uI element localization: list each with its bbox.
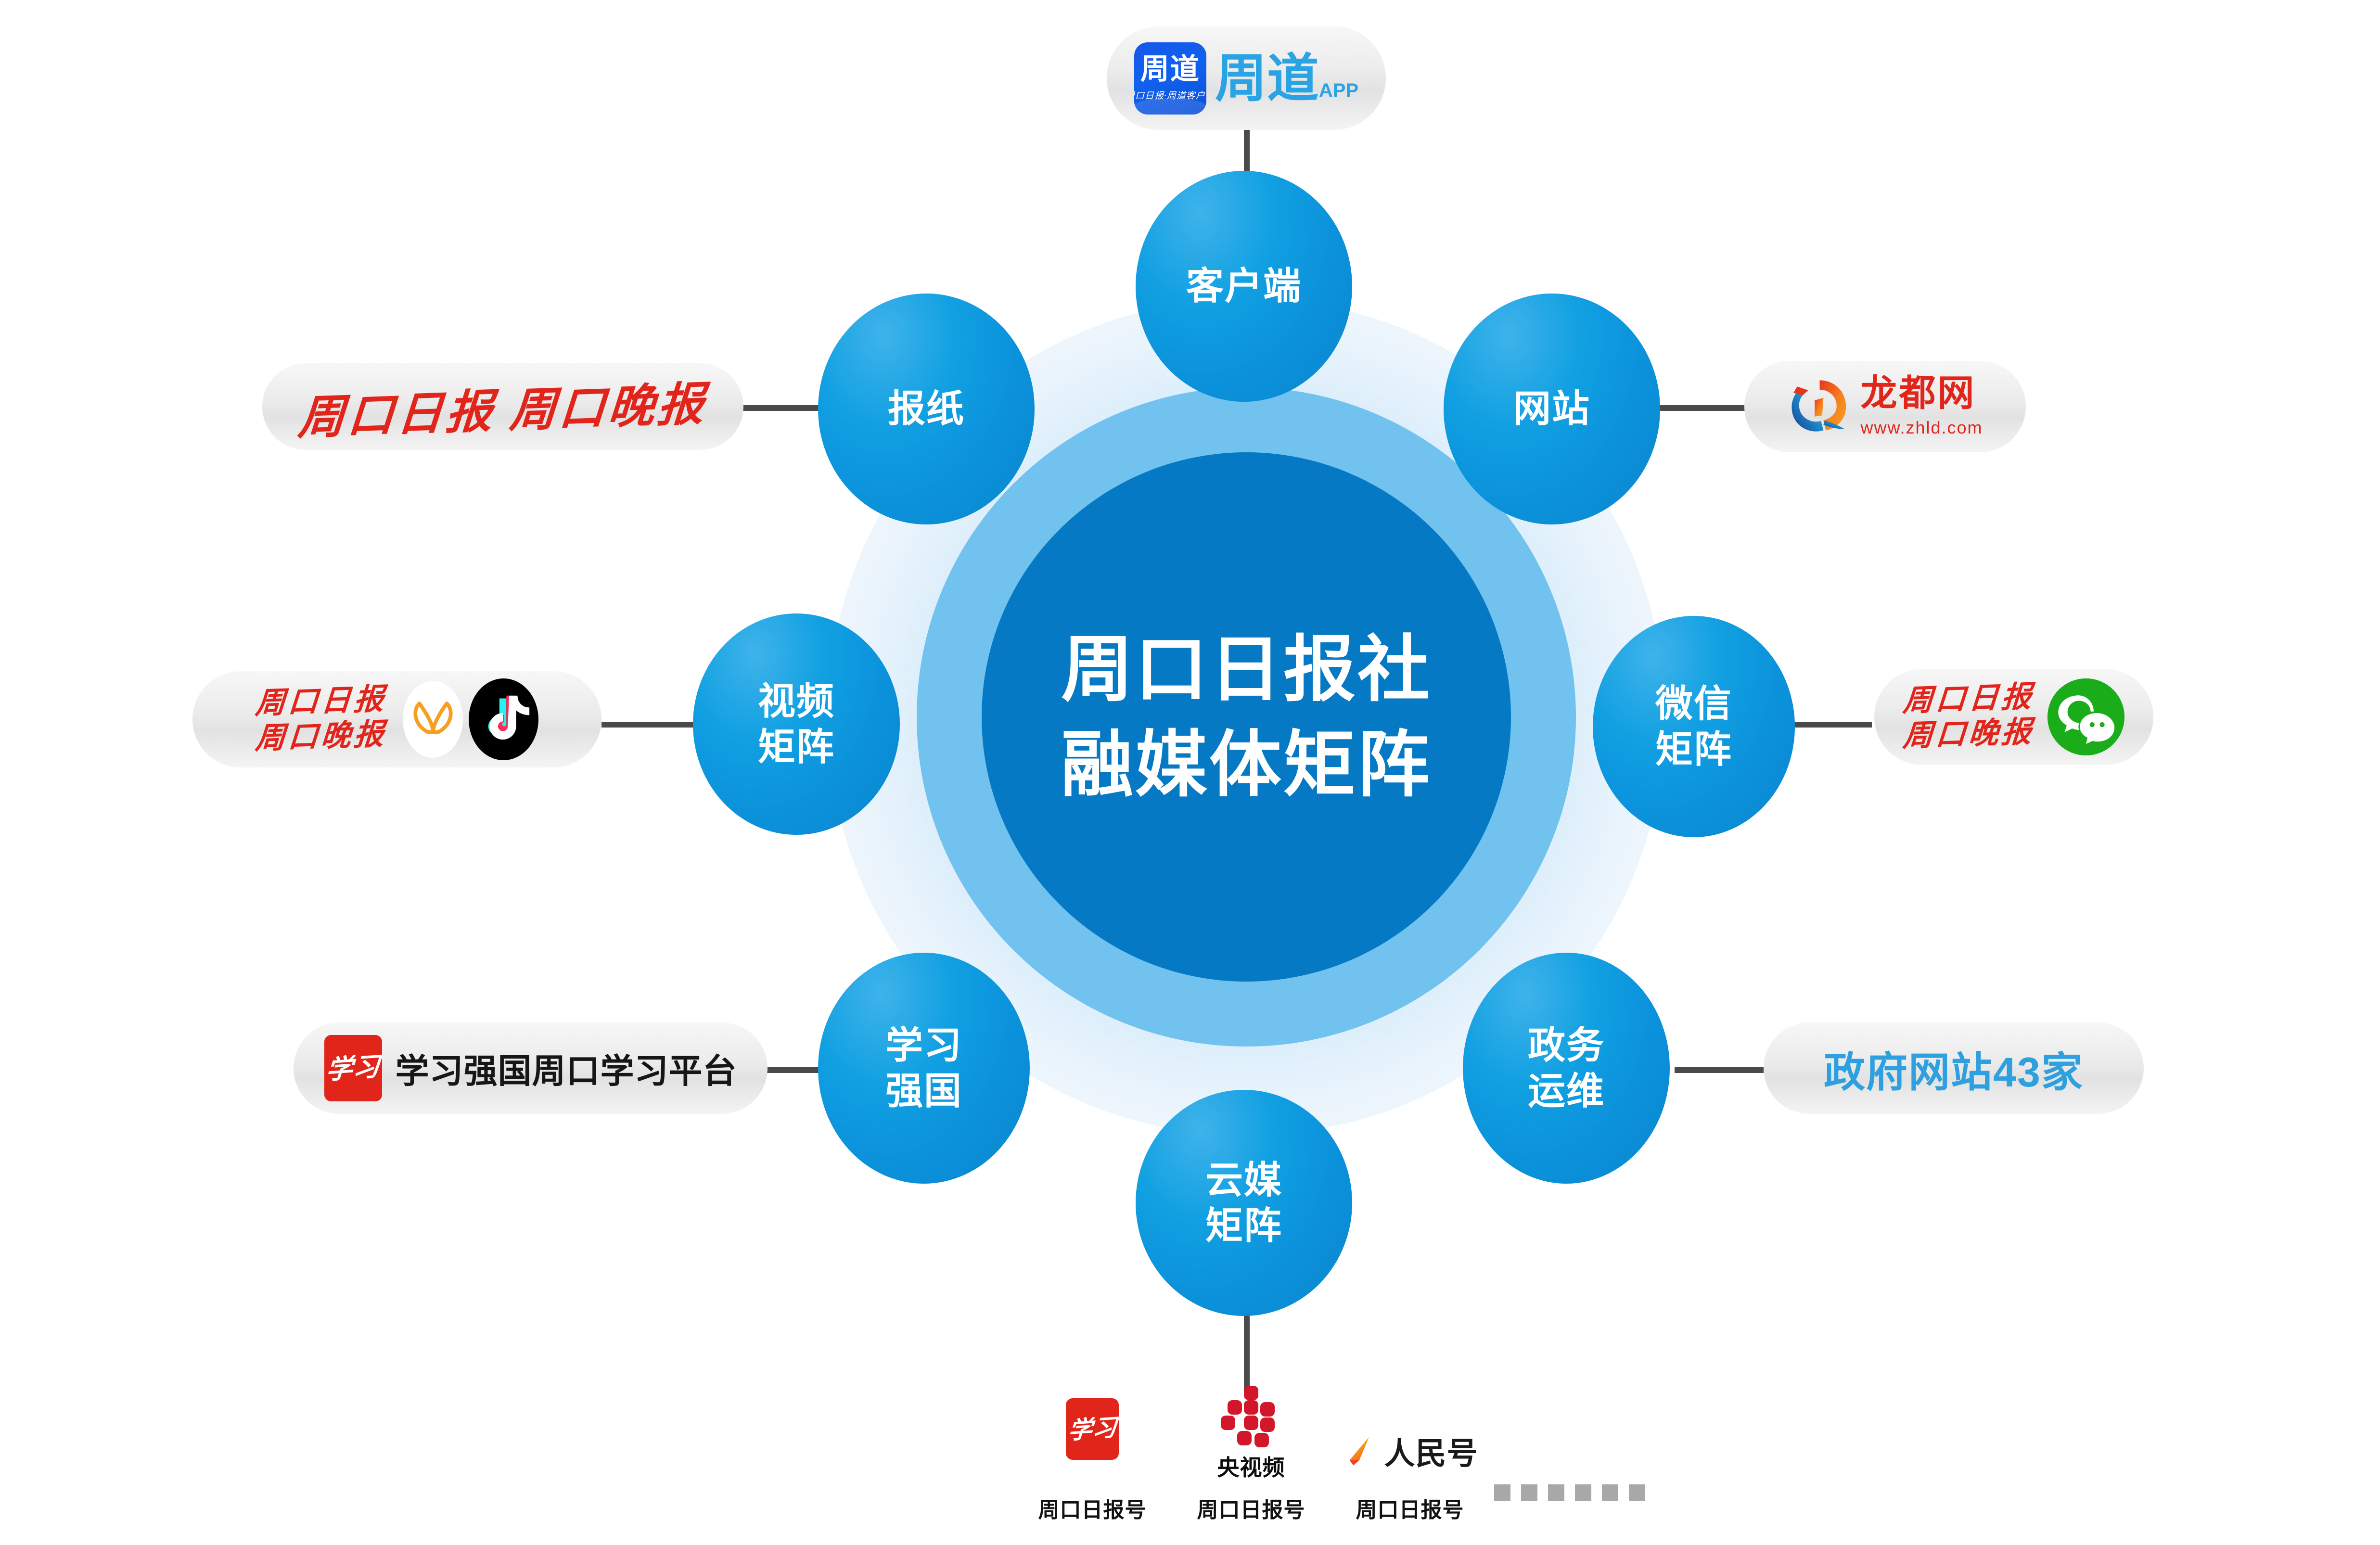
wechat-icon xyxy=(2047,678,2124,755)
node-video-matrix[interactable]: 视频 矩阵 xyxy=(693,613,900,835)
video-masthead-line2: 周口晚报 xyxy=(254,717,388,757)
node-website[interactable]: 网站 xyxy=(1444,294,1660,524)
node-wechat-label-2: 矩阵 xyxy=(1655,727,1732,772)
bottom-item-xuexi[interactable]: 学习 周口日报号 xyxy=(1013,1398,1172,1523)
xuexi-qiangguo-badge-icon: 学习 xyxy=(324,1035,382,1101)
connector-video-to-chip xyxy=(601,722,698,728)
xuexi-platform-text: 学习强国周口学习平台 xyxy=(396,1044,737,1093)
chip-zhoudao-app[interactable]: 周道 周口日报·周道客户端 周道 APP xyxy=(1107,26,1386,130)
yangshipin-wordmark: 央视频 xyxy=(1217,1450,1285,1482)
node-wechat-matrix[interactable]: 微信 矩阵 xyxy=(1593,616,1795,837)
wechat-masthead-line1: 周口日报 xyxy=(1902,679,2035,719)
center-title-line1: 周口日报社 xyxy=(1061,622,1432,717)
chip-xuexi-platform[interactable]: 学习 学习强国周口学习平台 xyxy=(294,1022,768,1114)
node-govops-label-1: 政务 xyxy=(1528,1022,1605,1068)
zhoudao-app-suffix: APP xyxy=(1319,80,1358,102)
node-client-label: 客户端 xyxy=(1186,263,1302,309)
newspaper-masthead-text: 周口日报 周口晚报 xyxy=(296,366,709,447)
video-masthead-line1: 周口日报 xyxy=(254,682,388,722)
xuexi-qiangguo-icon: 学习 xyxy=(1066,1398,1119,1460)
ellipsis-indicator xyxy=(1494,1462,1656,1523)
media-matrix-diagram: 周口日报社 融媒体矩阵 客户端 网站 微信 矩阵 政务 运维 云媒 矩阵 学习 … xyxy=(0,0,2380,1545)
zhld-url: www.zhld.com xyxy=(1860,418,1983,438)
node-client[interactable]: 客户端 xyxy=(1136,171,1352,402)
chip-government-websites[interactable]: 政府网站43家 xyxy=(1764,1022,2144,1114)
bottom-item-yangshipin[interactable]: 央视频 周口日报号 xyxy=(1172,1386,1331,1523)
node-xuexi-label-2: 强国 xyxy=(885,1068,962,1114)
xuexi-icon-text: 学习 xyxy=(1067,1416,1117,1443)
wechat-masthead-line2: 周口晚报 xyxy=(1902,715,2035,754)
node-video-label-1: 视频 xyxy=(758,678,835,724)
connector-website-to-chip xyxy=(1648,405,1752,411)
center-title-line2: 融媒体矩阵 xyxy=(1061,717,1432,812)
xuexi-badge-text: 学习 xyxy=(325,1053,381,1084)
node-cloudmedia-label-1: 云媒 xyxy=(1205,1157,1282,1203)
zhoudao-app-icon: 周道 周口日报·周道客户端 xyxy=(1134,42,1206,115)
connector-govops-to-chip xyxy=(1675,1067,1764,1073)
node-government-ops[interactable]: 政务 运维 xyxy=(1463,953,1670,1184)
chip-wechat-accounts[interactable]: 周口日报 周口晚报 xyxy=(1874,669,2153,765)
node-xuexi-qiangguo[interactable]: 学习 强国 xyxy=(818,953,1030,1184)
chip-newspapers[interactable]: 周口日报 周口晚报 xyxy=(262,363,743,450)
zhoudao-wordmark: 周道 xyxy=(1215,52,1319,104)
node-wechat-label-1: 微信 xyxy=(1655,681,1732,727)
bottom-platform-row: 学习 周口日报号 央视频 周口日报号 xyxy=(1013,1386,1656,1523)
yangshipin-icon xyxy=(1215,1386,1287,1447)
node-cloudmedia-label-2: 矩阵 xyxy=(1205,1203,1282,1249)
node-video-label-2: 矩阵 xyxy=(758,724,835,770)
node-website-label: 网站 xyxy=(1513,386,1590,432)
xigua-video-icon xyxy=(403,681,463,758)
chip-zhld-website[interactable]: 龙都网 www.zhld.com xyxy=(1744,361,2026,452)
node-govops-label-2: 运维 xyxy=(1528,1068,1605,1114)
center-core-circle: 周口日报社 融媒体矩阵 xyxy=(982,452,1511,982)
node-xuexi-label-1: 学习 xyxy=(885,1022,962,1068)
renminhao-logo: 人民号 xyxy=(1342,1420,1478,1482)
node-newspaper[interactable]: 报纸 xyxy=(818,294,1035,524)
bottom-item-renminhao[interactable]: 人民号 周口日报号 xyxy=(1331,1420,1489,1523)
zhld-dragon-icon xyxy=(1787,375,1850,438)
renminhao-wordmark: 人民号 xyxy=(1384,1429,1478,1473)
zhld-title: 龙都网 xyxy=(1860,375,1976,412)
chip-video-platforms[interactable]: 周口日报 周口晚报 xyxy=(192,671,601,767)
bottom-caption-renminhao: 周口日报号 xyxy=(1356,1493,1464,1523)
government-websites-text: 政府网站43家 xyxy=(1824,1038,2084,1098)
renminhao-icon xyxy=(1342,1432,1380,1470)
node-newspaper-label: 报纸 xyxy=(888,386,965,432)
node-cloud-media-matrix[interactable]: 云媒 矩阵 xyxy=(1136,1090,1352,1316)
bottom-caption-yangshipin: 周口日报号 xyxy=(1197,1493,1305,1523)
bottom-caption-xuexi: 周口日报号 xyxy=(1038,1493,1147,1523)
zhoudao-app-icon-text: 周道 xyxy=(1140,55,1200,84)
douyin-icon xyxy=(469,678,538,760)
